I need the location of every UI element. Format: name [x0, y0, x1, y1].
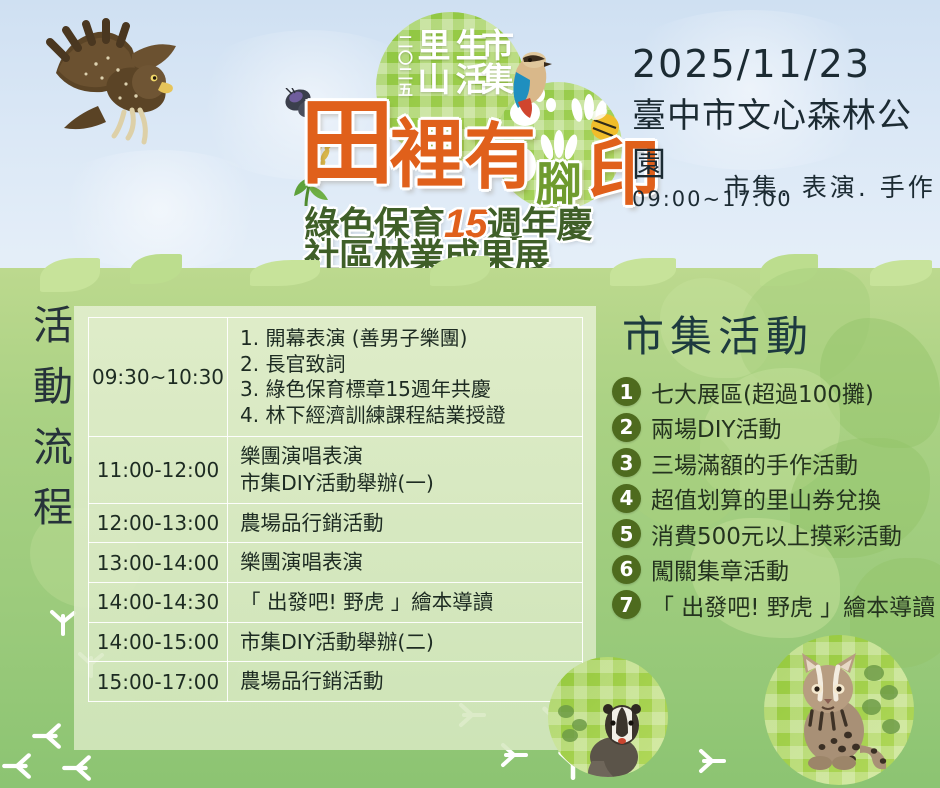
schedule-time: 14:00-15:00	[89, 622, 228, 662]
market-item-label: 「 出發吧! 野虎 」繪本導讀	[651, 588, 935, 622]
schedule-row: 09:30~10:301. 開幕表演 (善男子樂團)2. 長官致詞3. 綠色保育…	[89, 318, 583, 437]
schedule-description: 1. 開幕表演 (善男子樂團)2. 長官致詞3. 綠色保育標章15週年共慶4. …	[228, 318, 583, 437]
schedule-description: 樂團演唱表演市集DIY活動舉辦(一)	[228, 437, 583, 503]
schedule-row: 13:00-14:00樂團演唱表演	[89, 543, 583, 583]
market-item-number-badge: 4	[612, 484, 641, 513]
schedule-description-item: 樂團演唱表演	[240, 443, 578, 470]
schedule-description-item: 2. 長官致詞	[240, 352, 578, 378]
vlabel-char: 程	[28, 478, 78, 539]
bird-footprint-icon	[30, 720, 62, 757]
market-item-number-badge: 7	[612, 590, 641, 619]
market-item-label: 兩場DIY活動	[651, 410, 782, 444]
leopard-cat-circle	[764, 635, 914, 785]
schedule-description: 樂團演唱表演	[228, 543, 583, 583]
schedule-description: 市集DIY活動舉辦(二)	[228, 622, 583, 662]
event-date: 2025/11/23	[632, 42, 932, 86]
schedule-time: 14:00-14:30	[89, 582, 228, 622]
schedule-time: 15:00-17:00	[89, 662, 228, 702]
event-tags: 市集. 表演. 手作	[724, 168, 936, 204]
schedule-description: 「 出發吧! 野虎 」繪本導讀	[228, 582, 583, 622]
schedule-description-item: 4. 林下經濟訓練課程結業授證	[240, 403, 578, 429]
fairy-pitta-icon	[500, 50, 556, 120]
market-item-number-badge: 1	[612, 377, 641, 406]
ferret-badger-circle	[548, 657, 668, 777]
schedule-table: 09:30~10:301. 開幕表演 (善男子樂團)2. 長官致詞3. 綠色保育…	[88, 317, 583, 702]
market-list-item: 6闖關集章活動	[612, 552, 932, 588]
leopard-cat-icon	[782, 649, 896, 773]
market-list-item: 7「 出發吧! 野虎 」繪本導讀	[612, 587, 932, 623]
schedule-row: 12:00-13:00農場品行銷活動	[89, 503, 583, 543]
schedule-description: 農場品行銷活動	[228, 503, 583, 543]
schedule-row: 11:00-12:00樂團演唱表演市集DIY活動舉辦(一)	[89, 437, 583, 503]
market-heading: 市集活動	[622, 303, 814, 364]
title-char-li: 裡	[390, 118, 464, 192]
schedule-description-item: 市集DIY活動舉辦(一)	[240, 470, 578, 497]
poster-root: 二〇二五 里山 生活 市集 腳	[0, 0, 940, 788]
schedule-description-item: 1. 開幕表演 (善男子樂團)	[240, 326, 578, 352]
market-list-item: 5消費500元以上摸彩活動	[612, 516, 932, 552]
market-activity-list: 1七大展區(超過100攤)2兩場DIY活動3三場滿額的手作活動4超值划算的里山券…	[612, 374, 932, 623]
schedule-description-item: 農場品行銷活動	[240, 510, 578, 537]
market-item-label: 超值划算的里山券兌換	[651, 481, 881, 515]
schedule-time: 11:00-12:00	[89, 437, 228, 503]
schedule-row: 14:00-14:30「 出發吧! 野虎 」繪本導讀	[89, 582, 583, 622]
market-item-label: 七大展區(超過100攤)	[651, 375, 874, 409]
schedule-description-item: 「 出發吧! 野虎 」繪本導讀	[240, 589, 578, 616]
schedule-vertical-label: 活 動 流 程	[28, 296, 78, 539]
schedule-row: 14:00-15:00市集DIY活動舉辦(二)	[89, 622, 583, 662]
market-item-label: 消費500元以上摸彩活動	[651, 517, 902, 551]
market-list-item: 2兩場DIY活動	[612, 410, 932, 446]
market-item-number-badge: 2	[612, 413, 641, 442]
schedule-description-item: 市集DIY活動舉辦(二)	[240, 629, 578, 656]
market-item-number-badge: 6	[612, 555, 641, 584]
market-item-number-badge: 3	[612, 448, 641, 477]
schedule-time: 12:00-13:00	[89, 503, 228, 543]
logo-year: 二〇二五	[397, 34, 412, 98]
title-char-you: 有	[464, 122, 536, 194]
market-list-item: 1七大展區(超過100攤)	[612, 374, 932, 410]
bird-footprint-icon	[60, 752, 92, 788]
schedule-row: 15:00-17:00農場品行銷活動	[89, 662, 583, 702]
schedule-time: 13:00-14:00	[89, 543, 228, 583]
vlabel-char: 流	[28, 418, 78, 479]
title-char-tian: 田	[300, 96, 394, 190]
market-list-item: 3三場滿額的手作活動	[612, 445, 932, 481]
schedule-description-item: 農場品行銷活動	[240, 668, 578, 695]
market-item-label: 闖關集章活動	[651, 552, 789, 586]
schedule-description-item: 3. 綠色保育標章15週年共慶	[240, 377, 578, 403]
bird-footprint-icon	[698, 746, 728, 781]
vlabel-char: 動	[28, 357, 78, 418]
logo-line-1: 里山	[414, 28, 448, 96]
bird-footprint-icon	[0, 750, 32, 787]
crested-serpent-eagle-icon	[36, 18, 186, 158]
schedule-description-item: 樂團演唱表演	[240, 549, 578, 576]
schedule-description: 農場品行銷活動	[228, 662, 583, 702]
market-item-number-badge: 5	[612, 519, 641, 548]
market-list-item: 4超值划算的里山券兌換	[612, 481, 932, 517]
ferret-badger-icon	[582, 699, 660, 777]
schedule-time: 09:30~10:30	[89, 318, 228, 437]
vlabel-char: 活	[28, 296, 78, 357]
market-item-label: 三場滿額的手作活動	[651, 446, 858, 480]
